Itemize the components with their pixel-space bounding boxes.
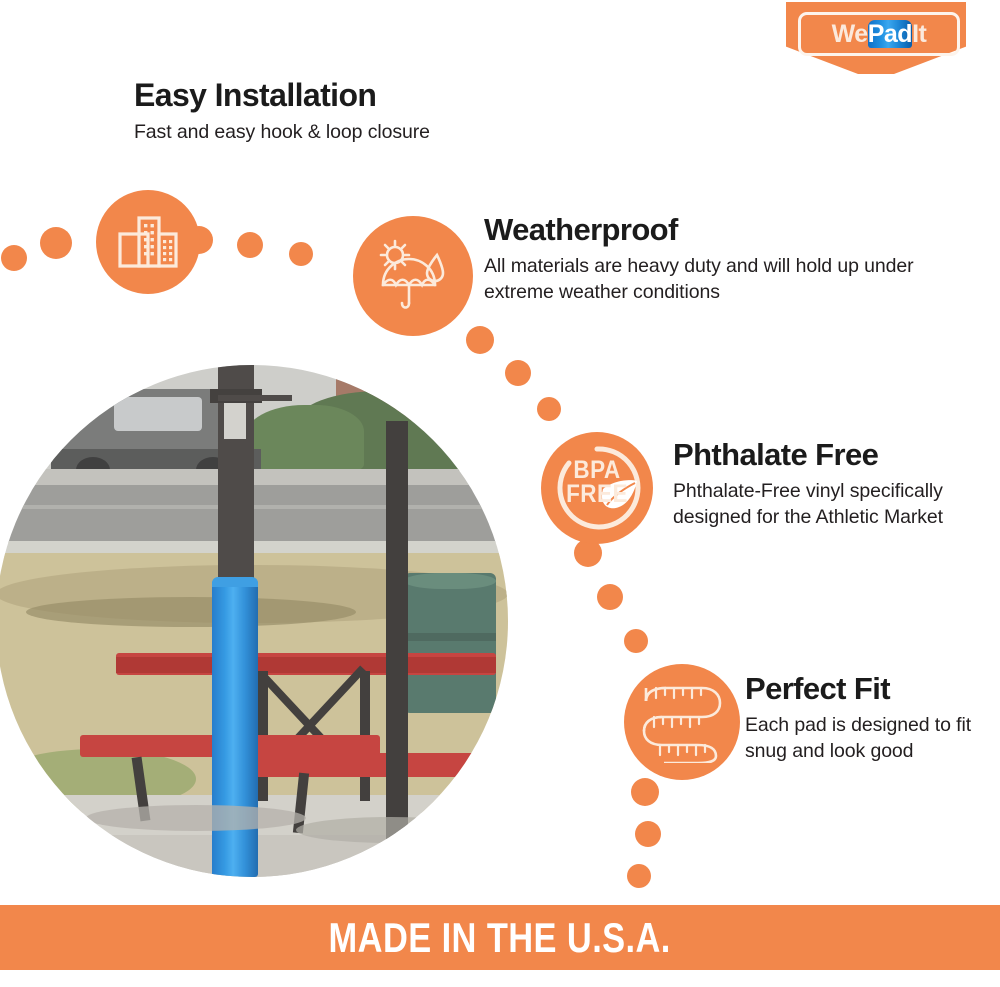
bpa-icon-text-line1: BPA	[547, 458, 648, 482]
infographic-canvas: WePadIt	[0, 0, 1000, 987]
made-in-usa-banner: MADE IN THE U.S.A.	[0, 905, 1000, 970]
path-dot	[505, 360, 531, 386]
building-install-icon	[117, 215, 179, 269]
logo-text: WePadIt	[832, 22, 927, 47]
feature-description-phthalate-free: Phthalate-Free vinyl specifically design…	[673, 479, 973, 531]
logo-frame: WePadIt	[798, 12, 960, 56]
feature-block-easy-installation: Easy Installation Fast and easy hook & l…	[134, 78, 564, 146]
bpa-free-leaf-icon: BPA FREE	[541, 432, 653, 544]
feature-description-easy-installation: Fast and easy hook & loop closure	[134, 120, 564, 146]
feature-description-perfect-fit: Each pad is designed to fit snug and loo…	[745, 713, 995, 765]
path-dot	[635, 821, 661, 847]
measuring-tape-icon	[640, 681, 724, 763]
feature-title-perfect-fit: Perfect Fit	[745, 672, 995, 707]
product-photo-blue-pole-pad	[0, 365, 508, 877]
logo-text-we: We	[832, 20, 868, 48]
feature-title-phthalate-free: Phthalate Free	[673, 438, 973, 473]
feature-title-easy-installation: Easy Installation	[134, 78, 564, 114]
path-dot	[597, 584, 623, 610]
icon-circle-perfect-fit	[624, 664, 740, 780]
feature-block-perfect-fit: Perfect Fit Each pad is designed to fit …	[745, 672, 995, 765]
path-dot	[537, 397, 561, 421]
umbrella-sun-raindrop-icon	[374, 239, 452, 313]
icon-circle-easy-installation	[96, 190, 200, 294]
icon-circle-phthalate-free: BPA FREE	[541, 432, 653, 544]
path-dot	[624, 629, 648, 653]
path-dot	[1, 245, 27, 271]
icon-circle-weatherproof	[353, 216, 473, 336]
path-dot	[466, 326, 494, 354]
feature-description-weatherproof: All materials are heavy duty and will ho…	[484, 254, 914, 306]
photo-overlay	[0, 365, 508, 877]
feature-block-weatherproof: Weatherproof All materials are heavy dut…	[484, 213, 914, 306]
path-dot	[40, 227, 72, 259]
made-in-usa-text: MADE IN THE U.S.A.	[329, 914, 671, 962]
logo-text-pad: Pad	[868, 20, 912, 48]
feature-title-weatherproof: Weatherproof	[484, 213, 914, 248]
feature-block-phthalate-free: Phthalate Free Phthalate-Free vinyl spec…	[673, 438, 973, 531]
path-dot	[237, 232, 263, 258]
bpa-icon-text-line2: FREE	[547, 482, 648, 506]
path-dot	[631, 778, 659, 806]
path-dot	[627, 864, 651, 888]
logo-text-it: It	[912, 20, 926, 48]
brand-logo: WePadIt	[786, 2, 966, 74]
path-dot	[289, 242, 313, 266]
